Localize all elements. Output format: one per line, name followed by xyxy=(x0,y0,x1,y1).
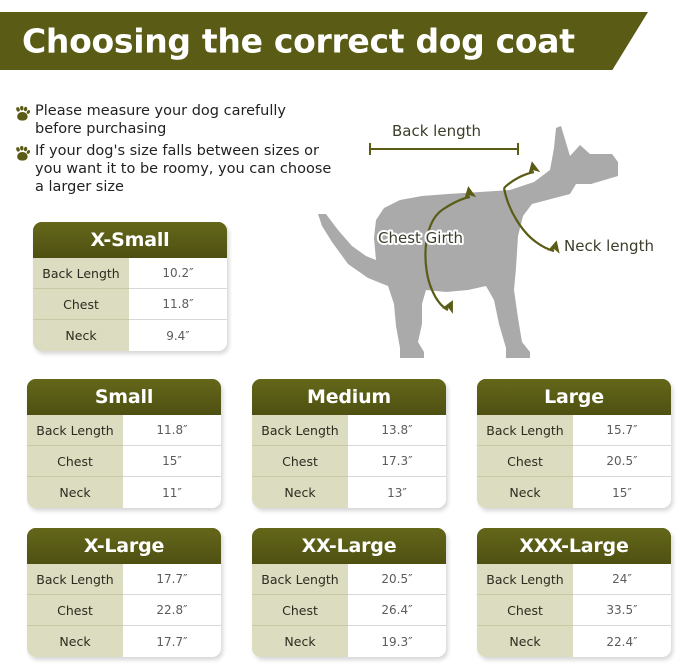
row-value: 17.7″ xyxy=(123,626,221,657)
row-value: 15″ xyxy=(573,477,671,508)
table-row: Back Length 15.7″ xyxy=(477,415,671,446)
row-label: Neck xyxy=(477,626,573,657)
row-label: Chest xyxy=(27,446,123,477)
row-value: 20.5″ xyxy=(348,564,446,595)
size-table-body: Back Length 11.8″ Chest 15″ Neck 11″ xyxy=(27,415,221,508)
row-value: 33.5″ xyxy=(573,595,671,626)
row-label: Neck xyxy=(27,626,123,657)
row-label: Chest xyxy=(477,595,573,626)
row-value: 11″ xyxy=(123,477,221,508)
paw-print-icon xyxy=(14,146,31,162)
table-row: Chest 22.8″ xyxy=(27,595,221,626)
row-label: Neck xyxy=(252,477,348,508)
row-value: 19.3″ xyxy=(348,626,446,657)
page-title: Choosing the correct dog coat xyxy=(22,22,575,61)
size-table-medium: Medium Back Length 13.8″ Chest 17.3″ Nec… xyxy=(252,379,446,508)
size-table-large: Large Back Length 15.7″ Chest 20.5″ Neck… xyxy=(477,379,671,508)
note-text: If your dog's size falls between sizes o… xyxy=(35,143,334,196)
table-row: Back Length 13.8″ xyxy=(252,415,446,446)
back-length-measure xyxy=(370,143,518,155)
paw-print-icon xyxy=(14,106,31,122)
size-table-title: Large xyxy=(477,379,671,415)
row-label: Back Length xyxy=(33,258,129,289)
size-table-title: X-Large xyxy=(27,528,221,564)
row-label: Back Length xyxy=(477,564,573,595)
table-row: Chest 33.5″ xyxy=(477,595,671,626)
neck-length-label: Neck length xyxy=(564,237,654,255)
table-row: Chest 20.5″ xyxy=(477,446,671,477)
size-table-xx-large: XX-Large Back Length 20.5″ Chest 26.4″ N… xyxy=(252,528,446,657)
size-table-title: XXX-Large xyxy=(477,528,671,564)
row-label: Back Length xyxy=(27,415,123,446)
table-row: Chest 26.4″ xyxy=(252,595,446,626)
size-table-body: Back Length 24″ Chest 33.5″ Neck 22.4″ xyxy=(477,564,671,657)
row-value: 15.7″ xyxy=(573,415,671,446)
row-value: 26.4″ xyxy=(348,595,446,626)
size-table-title: X-Small xyxy=(33,222,227,258)
table-row: Chest 17.3″ xyxy=(252,446,446,477)
row-label: Neck xyxy=(33,320,129,351)
size-table-x-large: X-Large Back Length 17.7″ Chest 22.8″ Ne… xyxy=(27,528,221,657)
row-value: 15″ xyxy=(123,446,221,477)
row-value: 13″ xyxy=(348,477,446,508)
size-table-body: Back Length 10.2″ Chest 11.8″ Neck 9.4″ xyxy=(33,258,227,351)
row-label: Neck xyxy=(27,477,123,508)
back-length-label: Back length xyxy=(392,122,481,140)
header-banner: Choosing the correct dog coat xyxy=(0,12,679,70)
size-table-x-small: X-Small Back Length 10.2″ Chest 11.8″ Ne… xyxy=(33,222,227,351)
table-row: Back Length 24″ xyxy=(477,564,671,595)
table-row: Neck 11″ xyxy=(27,477,221,508)
size-table-body: Back Length 17.7″ Chest 22.8″ Neck 17.7″ xyxy=(27,564,221,657)
note-text: Please measure your dog carefully before… xyxy=(35,103,334,138)
row-value: 11.8″ xyxy=(129,289,227,320)
size-table-title: Small xyxy=(27,379,221,415)
size-table-title: Medium xyxy=(252,379,446,415)
size-table-title: XX-Large xyxy=(252,528,446,564)
table-row: Neck 15″ xyxy=(477,477,671,508)
table-row: Neck 19.3″ xyxy=(252,626,446,657)
row-value: 11.8″ xyxy=(123,415,221,446)
table-row: Neck 17.7″ xyxy=(27,626,221,657)
note-item: If your dog's size falls between sizes o… xyxy=(14,143,334,196)
row-value: 17.3″ xyxy=(348,446,446,477)
size-table-xxx-large: XXX-Large Back Length 24″ Chest 33.5″ Ne… xyxy=(477,528,671,657)
row-label: Chest xyxy=(27,595,123,626)
row-value: 17.7″ xyxy=(123,564,221,595)
size-table-body: Back Length 20.5″ Chest 26.4″ Neck 19.3″ xyxy=(252,564,446,657)
row-value: 24″ xyxy=(573,564,671,595)
row-value: 13.8″ xyxy=(348,415,446,446)
table-row: Back Length 10.2″ xyxy=(33,258,227,289)
size-table-body: Back Length 15.7″ Chest 20.5″ Neck 15″ xyxy=(477,415,671,508)
row-label: Back Length xyxy=(477,415,573,446)
row-label: Chest xyxy=(33,289,129,320)
row-value: 22.4″ xyxy=(573,626,671,657)
size-table-small: Small Back Length 11.8″ Chest 15″ Neck 1… xyxy=(27,379,221,508)
row-label: Back Length xyxy=(252,415,348,446)
row-value: 9.4″ xyxy=(129,320,227,351)
dog-measurement-diagram: Back length Chest Girth Chest Girth Neck… xyxy=(318,118,679,363)
row-value: 20.5″ xyxy=(573,446,671,477)
table-row: Back Length 17.7″ xyxy=(27,564,221,595)
row-label: Neck xyxy=(477,477,573,508)
row-label: Back Length xyxy=(252,564,348,595)
table-row: Back Length 11.8″ xyxy=(27,415,221,446)
chest-girth-label: Chest Girth xyxy=(378,229,463,247)
table-row: Neck 13″ xyxy=(252,477,446,508)
note-item: Please measure your dog carefully before… xyxy=(14,103,334,138)
row-label: Neck xyxy=(252,626,348,657)
table-row: Chest 11.8″ xyxy=(33,289,227,320)
row-label: Chest xyxy=(477,446,573,477)
row-label: Back Length xyxy=(27,564,123,595)
row-label: Chest xyxy=(252,446,348,477)
table-row: Neck 22.4″ xyxy=(477,626,671,657)
row-value: 10.2″ xyxy=(129,258,227,289)
size-table-body: Back Length 13.8″ Chest 17.3″ Neck 13″ xyxy=(252,415,446,508)
table-row: Neck 9.4″ xyxy=(33,320,227,351)
table-row: Back Length 20.5″ xyxy=(252,564,446,595)
row-label: Chest xyxy=(252,595,348,626)
table-row: Chest 15″ xyxy=(27,446,221,477)
notes-list: Please measure your dog carefully before… xyxy=(14,103,334,201)
row-value: 22.8″ xyxy=(123,595,221,626)
